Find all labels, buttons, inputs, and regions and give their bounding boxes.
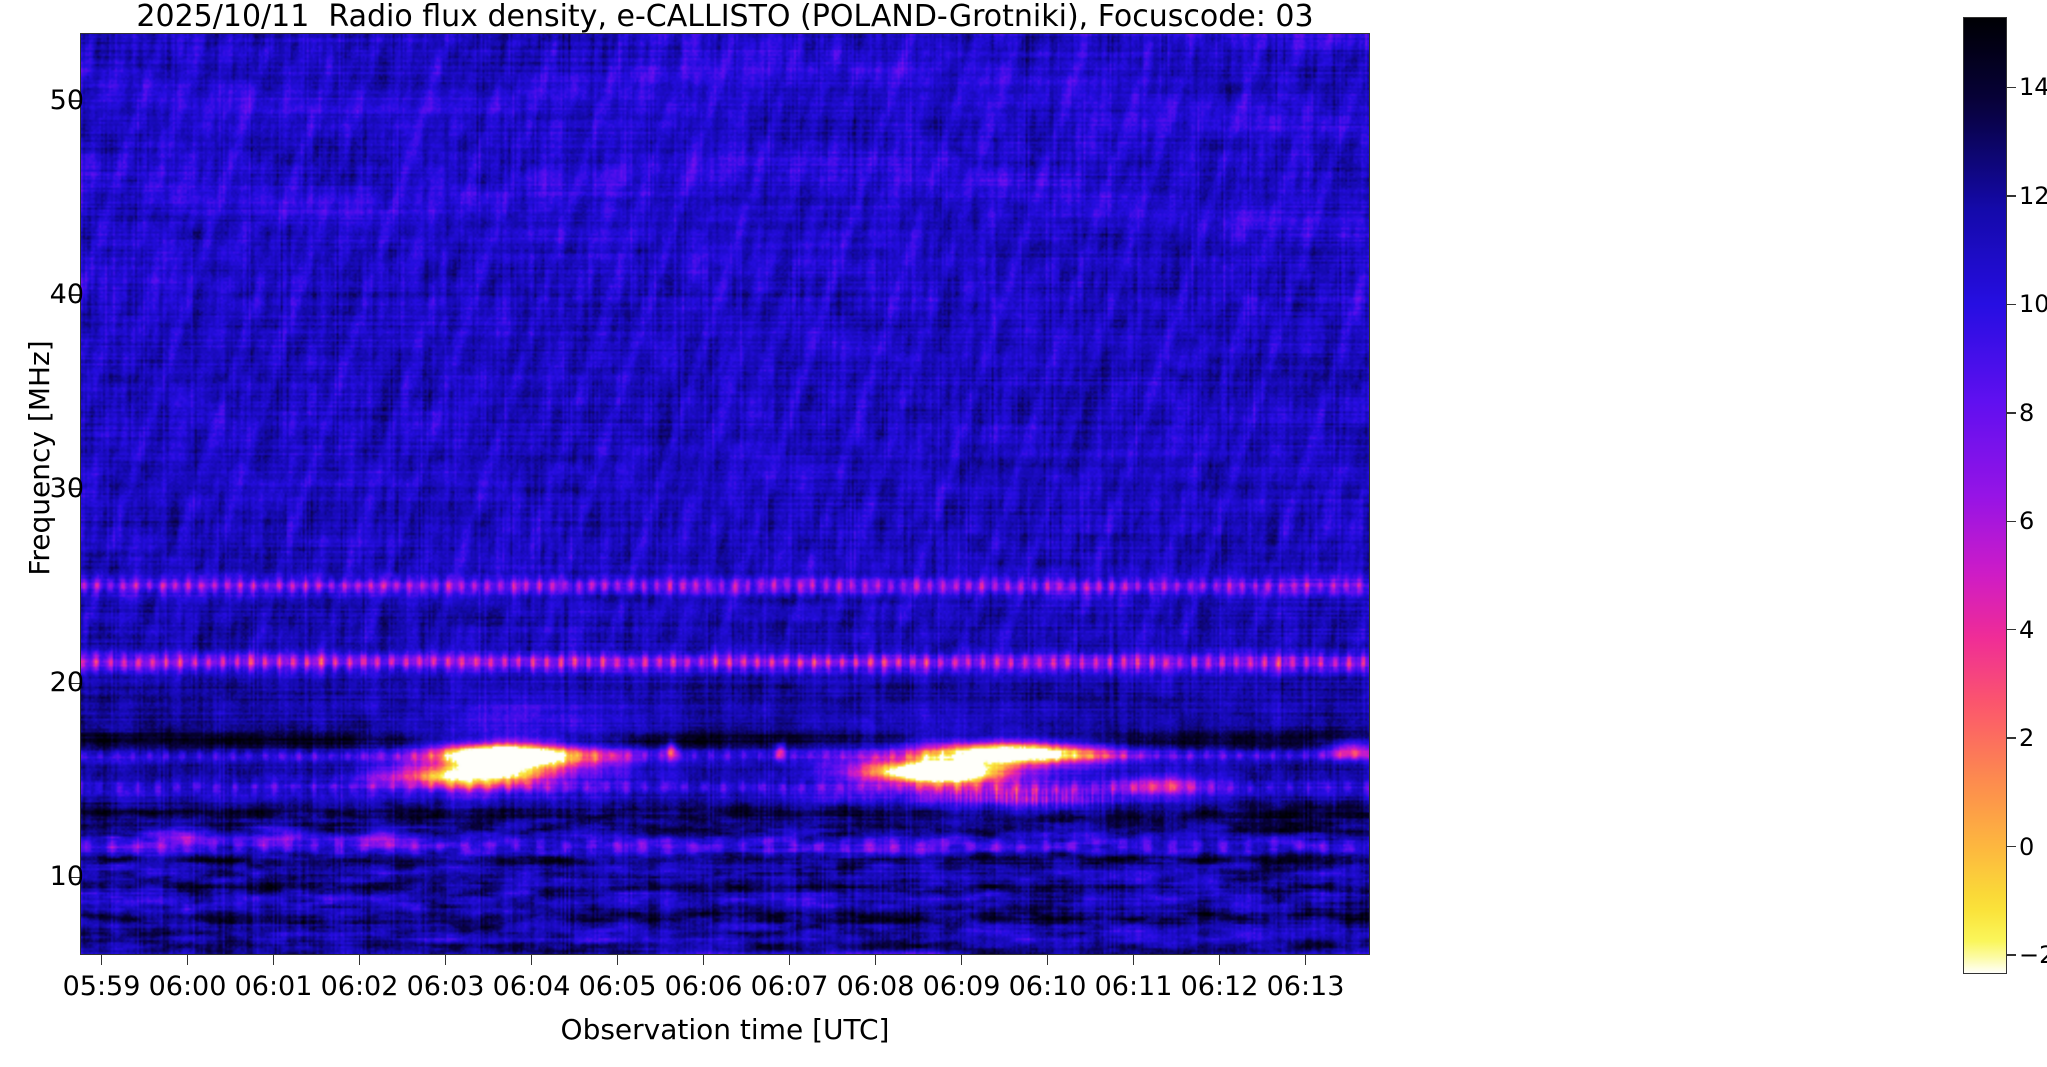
x-tick-mark (1219, 955, 1220, 965)
x-tick-mark (445, 955, 446, 965)
x-tick-mark (273, 955, 274, 965)
colorbar-tick-label: 12 (2019, 184, 2047, 208)
colorbar-tick-label: 6 (2019, 509, 2034, 533)
colorbar-tick-mark (2007, 737, 2016, 738)
y-axis-title: Frequency [MHz] (26, 198, 54, 718)
colorbar-tick-label: 10 (2019, 292, 2047, 316)
colorbar-tick-mark (2007, 521, 2016, 522)
colorbar-tick-mark (2007, 629, 2016, 630)
colorbar-tick-mark (2007, 195, 2016, 196)
colorbar-tick-label: 8 (2019, 401, 2034, 425)
colorbar-tick-mark (2007, 412, 2016, 413)
colorbar-tick-mark (2007, 304, 2016, 305)
x-tick-mark (359, 955, 360, 965)
colorbar (1963, 17, 2007, 974)
colorbar-tick-mark (2007, 87, 2016, 88)
y-tick-label: 50 (24, 87, 84, 114)
figure-title: 2025/10/11 Radio flux density, e-CALLIST… (80, 2, 1370, 32)
x-tick-mark (531, 955, 532, 965)
x-tick-mark (617, 955, 618, 965)
x-tick-mark (1047, 955, 1048, 965)
spectrogram-image (81, 34, 1369, 954)
y-tick-label: 10 (24, 863, 84, 890)
x-tick-mark (1133, 955, 1134, 965)
spectrogram-figure: 2025/10/11 Radio flux density, e-CALLIST… (0, 0, 2047, 1067)
x-tick-mark (961, 955, 962, 965)
x-tick-mark (1305, 955, 1306, 965)
colorbar-tick-label: 4 (2019, 618, 2034, 642)
plot-area (80, 33, 1370, 955)
colorbar-gradient (1964, 18, 2006, 973)
x-tick-mark (789, 955, 790, 965)
x-tick-mark (703, 955, 704, 965)
colorbar-tick-mark (2007, 846, 2016, 847)
x-axis-title: Observation time [UTC] (80, 1014, 1370, 1046)
colorbar-tick-label: −2 (2019, 943, 2047, 967)
x-tick-mark (875, 955, 876, 965)
colorbar-tick-label: 0 (2019, 835, 2034, 859)
x-tick-mark (101, 955, 102, 965)
colorbar-tick-mark (2007, 954, 2016, 955)
x-tick-label: 06:13 (1216, 972, 1396, 1002)
colorbar-tick-label: 2 (2019, 726, 2034, 750)
spectrogram-canvas (81, 34, 1369, 954)
x-tick-mark (187, 955, 188, 965)
colorbar-tick-label: 14 (2019, 75, 2047, 99)
